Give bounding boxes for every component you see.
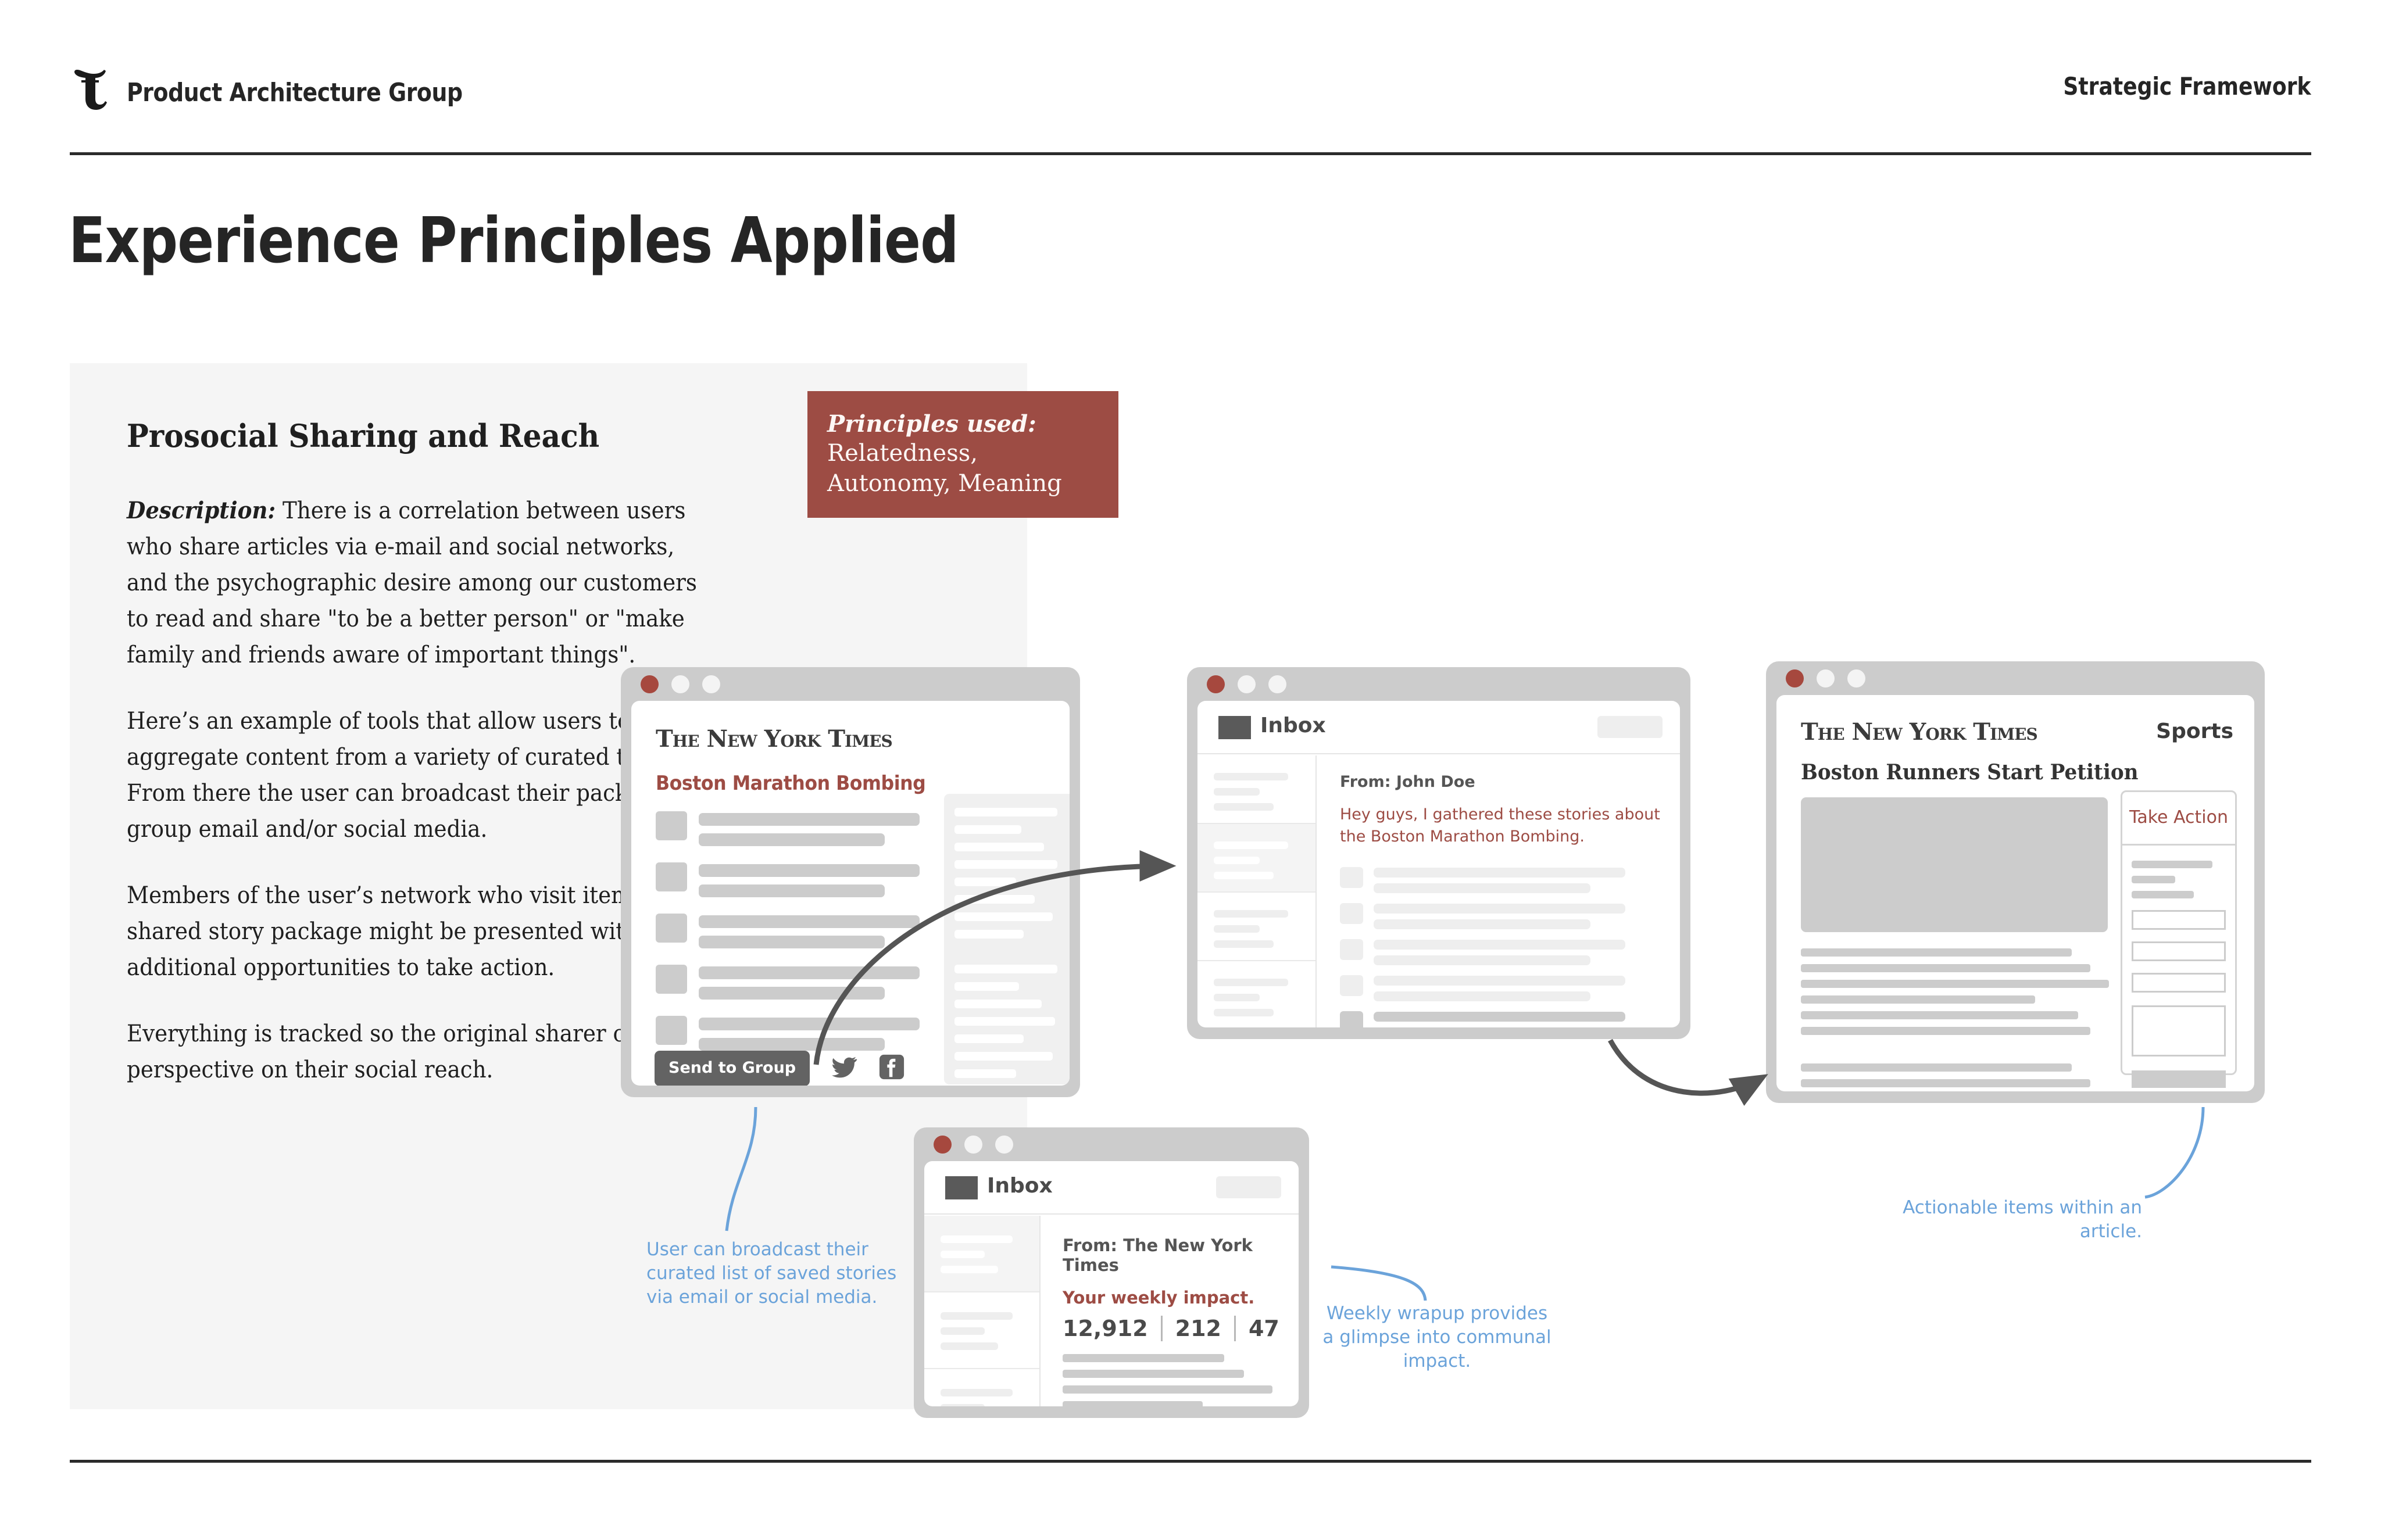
summary-placeholder <box>699 884 885 897</box>
inbox-body-split: From: The New York Times Your weekly imp… <box>924 1216 1299 1406</box>
sidebar-rail <box>944 794 1070 1084</box>
line <box>2132 876 2175 883</box>
browser-window-nyt-list: The New York Times Boston Marathon Bombi… <box>621 667 1080 1097</box>
summary-placeholder <box>1374 919 1590 929</box>
list-item[interactable] <box>1197 961 1315 1027</box>
story-row[interactable] <box>1340 938 1660 974</box>
metric-divider <box>1234 1316 1236 1341</box>
close-dot-icon[interactable] <box>1786 669 1804 687</box>
line <box>1801 1063 2072 1072</box>
line <box>1214 925 1260 933</box>
thumbnail-placeholder <box>1340 939 1363 960</box>
window-titlebar <box>1766 661 2265 695</box>
page-header: Product Architecture Group Strategic Fra… <box>70 69 2311 103</box>
window-content: Inbox From: John Doe Hey guys, I gathere… <box>1197 701 1680 1027</box>
rail-line <box>954 895 1035 904</box>
leader-line-3 <box>2145 1107 2203 1197</box>
thumbnail-placeholder <box>656 914 687 943</box>
inbox-header-pill[interactable] <box>1597 716 1663 738</box>
rail-line <box>954 912 1053 921</box>
close-dot-icon[interactable] <box>934 1136 952 1154</box>
list-item[interactable] <box>656 860 929 911</box>
line <box>1214 872 1274 879</box>
line <box>1214 841 1288 849</box>
story-row[interactable] <box>1340 866 1660 902</box>
line <box>941 1342 998 1350</box>
minimize-dot-icon[interactable] <box>1817 669 1835 687</box>
window-titlebar <box>621 667 1080 701</box>
story-row[interactable] <box>1340 902 1660 938</box>
article-headline: Boston Runners Start Petition <box>1801 760 2139 785</box>
line <box>2132 891 2194 898</box>
summary-placeholder <box>699 833 885 846</box>
inbox-header: Inbox <box>924 1161 1299 1215</box>
title-placeholder <box>699 813 920 826</box>
maximize-dot-icon[interactable] <box>1268 675 1286 693</box>
browser-window-inbox-weekly: Inbox From: The New York Times Your week… <box>914 1127 1309 1418</box>
take-action-panel: Take Action <box>2121 790 2237 1075</box>
inbox-title: Inbox <box>987 1174 1053 1198</box>
list-item[interactable] <box>924 1369 1039 1406</box>
title-placeholder <box>1374 976 1625 986</box>
nyt-masthead: The New York Times <box>656 725 892 753</box>
take-action-label[interactable]: Take Action <box>2122 792 2235 846</box>
line <box>941 1251 985 1258</box>
line <box>941 1389 1013 1396</box>
line <box>1214 994 1260 1001</box>
title-placeholder <box>699 864 920 877</box>
message-from: From: John Doe <box>1340 773 1660 791</box>
list-item-selected[interactable] <box>1197 824 1315 893</box>
metric-value-1: 12,912 <box>1063 1316 1148 1341</box>
impact-metrics: 12,912 212 47 <box>1063 1316 1281 1341</box>
header-divider <box>70 152 2311 155</box>
maximize-dot-icon[interactable] <box>702 675 720 693</box>
inbox-message-list <box>924 1216 1041 1406</box>
inbox-header: Inbox <box>1197 701 1680 754</box>
maximize-dot-icon[interactable] <box>995 1136 1013 1154</box>
article-hero-image-placeholder <box>1801 797 2108 932</box>
line <box>941 1312 1013 1320</box>
form-textarea-field[interactable] <box>2132 1005 2226 1056</box>
envelope-icon <box>945 1176 978 1199</box>
nyt-t-logo-icon <box>70 69 110 117</box>
footer-divider <box>70 1460 2311 1463</box>
rail-line <box>954 1034 1024 1043</box>
share-actions: Send to Group <box>655 1051 905 1086</box>
thumbnail-placeholder <box>1340 975 1363 996</box>
story-row-highlighted[interactable] <box>1340 1010 1660 1027</box>
line <box>1214 940 1274 948</box>
inbox-message-list <box>1197 755 1317 1027</box>
line <box>2132 861 2212 868</box>
form-input-field[interactable] <box>2132 910 2226 930</box>
thumbnail-placeholder <box>656 965 687 994</box>
rail-line <box>954 1069 1016 1078</box>
header-brand: Product Architecture Group <box>70 69 517 117</box>
form-input-field[interactable] <box>2132 941 2226 961</box>
form-submit-button[interactable] <box>2132 1070 2226 1088</box>
principles-label: Principles used: <box>827 410 1099 439</box>
summary-placeholder <box>699 987 885 1000</box>
message-body-placeholder <box>1063 1354 1281 1406</box>
flow-arrow-2 <box>1610 1040 1761 1093</box>
thumbnail-placeholder <box>1340 867 1363 888</box>
message-subject: Your weekly impact. <box>1063 1288 1281 1308</box>
summary-placeholder <box>699 936 885 948</box>
maximize-dot-icon[interactable] <box>1847 669 1865 687</box>
minimize-dot-icon[interactable] <box>671 675 689 693</box>
line <box>1801 964 2090 972</box>
line <box>1801 1079 2090 1087</box>
page-title: Experience Principles Applied <box>69 205 959 277</box>
rail-line <box>954 1000 1042 1008</box>
description-paragraph: Description: There is a correlation betw… <box>127 493 716 673</box>
inbox-message-pane: From: John Doe Hey guys, I gathered thes… <box>1317 755 1680 1027</box>
close-dot-icon[interactable] <box>641 675 659 693</box>
browser-window-sports-article: The New York Times Sports Boston Runners… <box>1766 661 2265 1103</box>
line <box>1063 1385 1272 1394</box>
minimize-dot-icon[interactable] <box>1238 675 1256 693</box>
list-item[interactable] <box>1197 893 1315 961</box>
window-content: Inbox From: The New York Times Your week… <box>924 1161 1299 1406</box>
story-row[interactable] <box>1340 974 1660 1010</box>
metric-value-3: 47 <box>1249 1316 1279 1341</box>
line <box>1063 1354 1224 1362</box>
thumbnail-placeholder <box>656 811 687 840</box>
leader-line-2 <box>1331 1267 1425 1301</box>
rail-line <box>954 982 1019 991</box>
title-placeholder <box>699 1018 920 1030</box>
line <box>941 1266 998 1273</box>
title-placeholder <box>1374 940 1625 950</box>
metric-divider <box>1161 1316 1163 1341</box>
thumbnail-placeholder <box>1340 1011 1363 1027</box>
line <box>941 1404 985 1406</box>
annotation-broadcast: User can broadcast their curated list of… <box>646 1238 914 1309</box>
window-titlebar <box>1187 667 1690 701</box>
rail-line <box>954 930 1024 939</box>
principles-list: Relatedness, Autonomy, Meaning <box>827 439 1099 498</box>
line <box>941 1235 1013 1243</box>
summary-placeholder <box>1374 991 1590 1001</box>
line <box>1214 773 1288 780</box>
title-placeholder <box>1374 1012 1625 1022</box>
list-item[interactable] <box>1197 755 1315 824</box>
rail-line <box>954 808 1057 816</box>
nyt-masthead: The New York Times <box>1801 718 2037 746</box>
thumbnail-placeholder <box>656 862 687 891</box>
summary-placeholder <box>1374 955 1590 965</box>
rail-line <box>954 878 1016 886</box>
inbox-body-split: From: John Doe Hey guys, I gathered thes… <box>1197 755 1680 1027</box>
list-item[interactable] <box>656 911 929 962</box>
article-body-placeholder <box>1801 948 2109 1091</box>
title-placeholder <box>1374 904 1625 914</box>
message-text: Hey guys, I gathered these stories about… <box>1340 804 1660 848</box>
rail-line <box>954 1017 1055 1026</box>
window-titlebar <box>914 1127 1309 1161</box>
list-item-selected[interactable] <box>924 1216 1039 1292</box>
title-placeholder <box>699 915 920 928</box>
line <box>1801 1011 2078 1019</box>
rail-line <box>954 825 1021 834</box>
window-content: The New York Times Sports Boston Runners… <box>1776 695 2254 1091</box>
title-placeholder <box>699 966 920 979</box>
rail-line <box>954 965 1057 973</box>
line <box>1214 910 1288 918</box>
message-from: From: The New York Times <box>1063 1235 1281 1275</box>
rail-line <box>954 843 1044 851</box>
thumbnail-placeholder <box>656 1016 687 1045</box>
annotation-weekly-wrapup: Weekly wrapup provides a glimpse into co… <box>1321 1302 1553 1373</box>
line <box>1063 1370 1244 1378</box>
list-item[interactable] <box>924 1292 1039 1369</box>
rail-line <box>954 860 1057 869</box>
line <box>1214 857 1260 864</box>
line <box>1801 948 2072 957</box>
saved-stories-list <box>656 809 929 1065</box>
send-to-group-button[interactable]: Send to Group <box>655 1051 810 1086</box>
inbox-title: Inbox <box>1260 714 1326 737</box>
window-content: The New York Times Boston Marathon Bombi… <box>631 701 1070 1086</box>
annotation-actionable-items: Actionable items within an article. <box>1881 1196 2142 1244</box>
list-item[interactable] <box>656 809 929 860</box>
twitter-bird-icon[interactable] <box>831 1054 857 1083</box>
inbox-message-pane: From: The New York Times Your weekly imp… <box>1041 1216 1299 1406</box>
section-heading: Prosocial Sharing and Reach <box>127 417 678 454</box>
summary-placeholder <box>1374 883 1590 893</box>
line <box>1214 1009 1274 1016</box>
take-action-form <box>2122 846 2235 1088</box>
metric-value-2: 212 <box>1175 1316 1221 1341</box>
line <box>1801 1027 2090 1035</box>
close-dot-icon[interactable] <box>1207 675 1225 693</box>
form-input-field[interactable] <box>2132 973 2226 993</box>
line <box>1214 788 1260 796</box>
line <box>941 1327 985 1335</box>
browser-window-inbox-john: Inbox From: John Doe Hey guys, I gathere… <box>1187 667 1690 1039</box>
facebook-f-icon[interactable] <box>878 1054 905 1083</box>
line <box>1801 995 2035 1004</box>
line <box>1214 979 1288 986</box>
minimize-dot-icon[interactable] <box>964 1136 982 1154</box>
line <box>1801 980 2109 988</box>
header-title: Product Architecture Group <box>127 78 463 108</box>
list-item[interactable] <box>656 962 929 1013</box>
thumbnail-placeholder <box>1340 903 1363 924</box>
section-label: Sports <box>2156 719 2233 743</box>
rail-line <box>954 1052 1053 1061</box>
description-label: Description: <box>127 497 276 524</box>
topic-headline: Boston Marathon Bombing <box>656 772 925 795</box>
header-right-label: Strategic Framework <box>2064 72 2311 101</box>
inbox-header-pill[interactable] <box>1216 1176 1281 1198</box>
summary-placeholder <box>699 1038 885 1051</box>
title-placeholder <box>1374 868 1625 878</box>
line <box>1214 803 1274 811</box>
line <box>1063 1401 1203 1406</box>
envelope-icon <box>1218 716 1251 739</box>
principles-used-box: Principles used: Relatedness, Autonomy, … <box>807 391 1118 518</box>
